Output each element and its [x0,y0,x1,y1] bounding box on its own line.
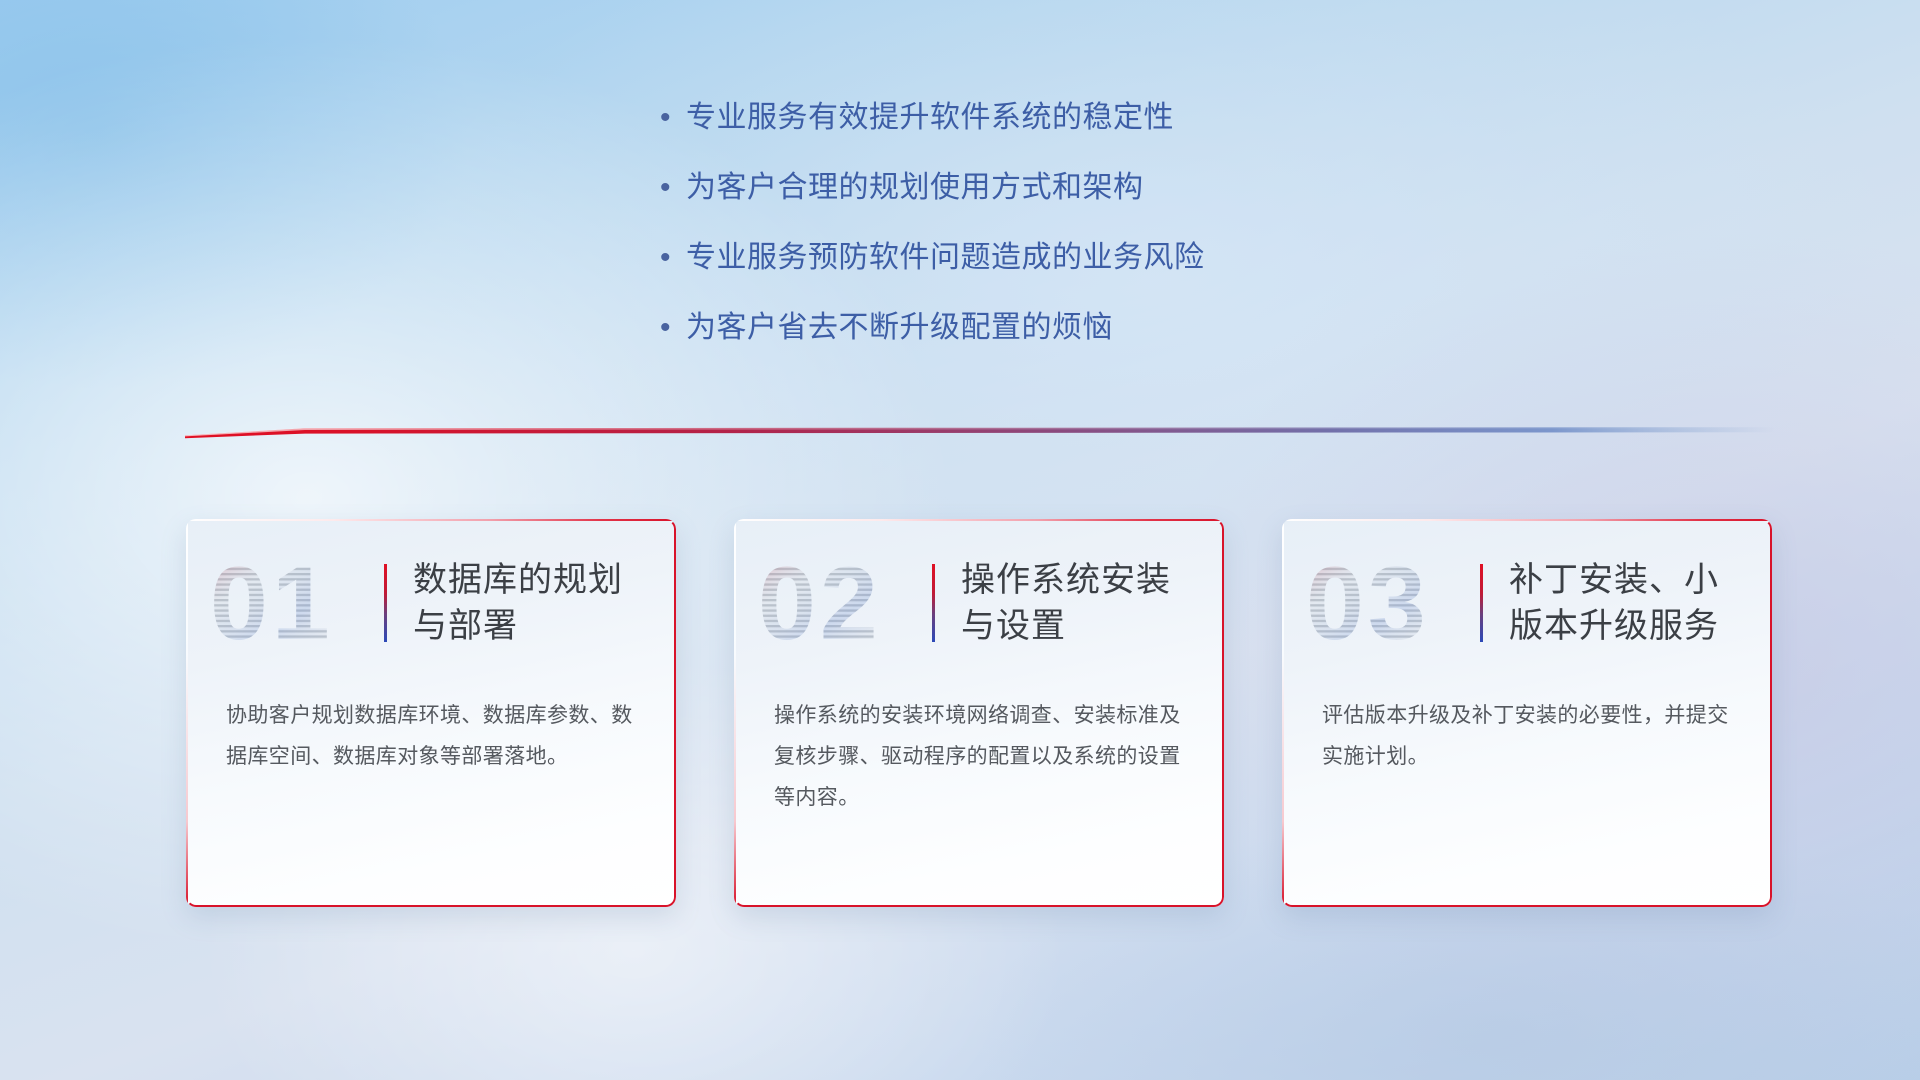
card-title-divider [1480,564,1483,642]
card-top-accent-line [186,519,676,521]
card-title-line: 补丁安装、小 [1509,557,1719,603]
card-header: 0101数据库的规划与部署 [186,543,676,663]
bullet-dot-icon: • [660,308,686,348]
card-title-line: 操作系统安装 [961,557,1171,603]
bullet-text: 为客户省去不断升级配置的烦恼 [686,308,1113,348]
card-title-line: 与部署 [413,603,623,649]
bullet-dot-icon: • [660,168,686,208]
bullet-dot-icon: • [660,238,686,278]
card-number-watermark: 0303 [1304,547,1480,659]
bullet-text: 为客户合理的规划使用方式和架构 [686,168,1144,208]
card-title-line: 版本升级服务 [1509,603,1719,649]
card-number-watermark: 0101 [208,547,384,659]
card-body-text: 操作系统的安装环境网络调查、安装标准及复核步骤、驱动程序的配置以及系统的设置等内… [774,695,1190,818]
bullet-text: 专业服务预防软件问题造成的业务风险 [686,238,1205,278]
number-stripe-icon: 02 [756,547,932,659]
service-card[interactable]: 0303补丁安装、小版本升级服务评估版本升级及补丁安装的必要性，并提交实施计划。 [1282,519,1772,907]
card-title: 数据库的规划与部署 [413,557,623,649]
service-card[interactable]: 0202操作系统安装与设置操作系统的安装环境网络调查、安装标准及复核步骤、驱动程… [734,519,1224,907]
card-title: 补丁安装、小版本升级服务 [1509,557,1719,649]
service-card[interactable]: 0101数据库的规划与部署协助客户规划数据库环境、数据库参数、数据库空间、数据库… [186,519,676,907]
bullet-item: •专业服务预防软件问题造成的业务风险 [660,238,1205,278]
card-number-watermark: 0202 [756,547,932,659]
card-body-text: 评估版本升级及补丁安装的必要性，并提交实施计划。 [1322,695,1738,777]
tapered-rule-icon [185,422,1775,440]
benefits-bullet-list: •专业服务有效提升软件系统的稳定性•为客户合理的规划使用方式和架构•专业服务预防… [660,98,1205,378]
bullet-item: •专业服务有效提升软件系统的稳定性 [660,98,1205,138]
bullet-item: •为客户合理的规划使用方式和架构 [660,168,1205,208]
card-title-divider [384,564,387,642]
number-stripe-icon: 01 [208,547,384,659]
bullet-text: 专业服务有效提升软件系统的稳定性 [686,98,1174,138]
card-title-line: 数据库的规划 [413,557,623,603]
card-body-text: 协助客户规划数据库环境、数据库参数、数据库空间、数据库对象等部署落地。 [226,695,642,777]
card-title-divider [932,564,935,642]
service-card-row: 0101数据库的规划与部署协助客户规划数据库环境、数据库参数、数据库空间、数据库… [186,519,1772,907]
bullet-dot-icon: • [660,98,686,138]
card-top-accent-line [1282,519,1772,521]
slide-stage: •专业服务有效提升软件系统的稳定性•为客户合理的规划使用方式和架构•专业服务预防… [0,0,1920,1080]
card-title: 操作系统安装与设置 [961,557,1171,649]
number-stripe-icon: 03 [1304,547,1480,659]
card-title-line: 与设置 [961,603,1171,649]
card-header: 0202操作系统安装与设置 [734,543,1224,663]
bullet-item: •为客户省去不断升级配置的烦恼 [660,308,1205,348]
card-header: 0303补丁安装、小版本升级服务 [1282,543,1772,663]
section-divider [185,422,1775,440]
card-top-accent-line [734,519,1224,521]
